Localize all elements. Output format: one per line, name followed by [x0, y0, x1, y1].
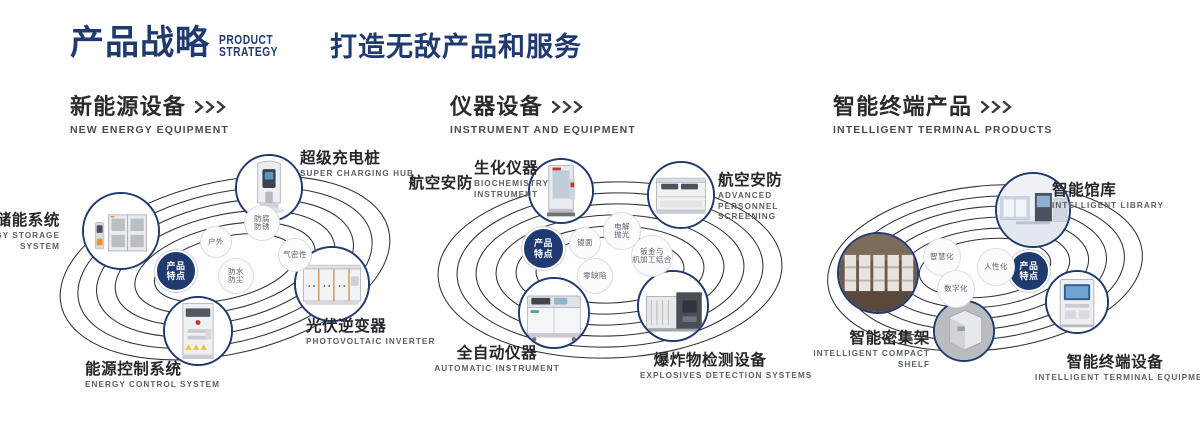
label-cn: 航空安防: [718, 172, 808, 189]
feature-bubble-label: 气密性: [283, 251, 307, 259]
feature-bubble-waterproof[interactable]: 防水 防尘: [218, 258, 254, 294]
label-cn: 光伏逆变器: [306, 318, 435, 335]
label-intelligent-compact-shelf: 智能密集架 INTELLIGENT COMPACT SHELF: [790, 330, 930, 370]
section-title-en: INSTRUMENT AND EQUIPMENT: [450, 125, 636, 136]
label-en: PHOTOVOLTAIC INVERTER: [306, 337, 435, 347]
feature-bubble-mirror-finish[interactable]: 镜面: [569, 227, 601, 259]
feature-bubble-label: 零缺陷: [583, 272, 607, 280]
node-intelligent-terminal-equipment[interactable]: [1045, 270, 1109, 334]
label-en: AUTOMATIC INSTRUMENT: [432, 364, 562, 374]
feature-bubble-line2: 防锈: [254, 223, 270, 231]
label-super-charging-hub: 超级充电桩 SUPER CHARGING HUB: [300, 150, 414, 180]
feature-bubble-sheetmetal-machining[interactable]: 钣金与 机加工结合: [631, 235, 673, 277]
center-bubble-product-features[interactable]: 产品 特点: [522, 227, 565, 270]
label-en: ENERGY CONTROL SYSTEM: [85, 380, 220, 390]
feature-bubble-label: 智慧化: [930, 253, 954, 261]
feature-bubble-label: 数字化: [944, 285, 968, 293]
section-title-en: NEW ENERGY EQUIPMENT: [70, 125, 229, 136]
label-cn: 智能密集架: [790, 330, 930, 347]
node-explosives-detection-systems[interactable]: [637, 270, 709, 342]
label-cn: 智能馆库: [1052, 182, 1164, 199]
label-energy-control-system: 能源控制系统 ENERGY CONTROL SYSTEM: [85, 361, 220, 391]
node-energy-storage-system[interactable]: [82, 192, 160, 270]
label-cn: 储能系统: [0, 212, 60, 229]
feature-bubble-outdoor[interactable]: 户外: [200, 226, 232, 258]
node-energy-control-system[interactable]: [163, 296, 233, 366]
label-photovoltaic-inverter: 光伏逆变器 PHOTOVOLTAIC INVERTER: [306, 318, 435, 348]
label-en: SUPER CHARGING HUB: [300, 169, 414, 179]
feature-bubble-label: 镜面: [577, 239, 593, 247]
center-bubble-line1: 产品: [1019, 261, 1038, 271]
section-title-en: INTELLIGENT TERMINAL PRODUCTS: [833, 125, 1053, 136]
label-energy-storage-system: 储能系统 ENERGY STORAGE SYSTEM: [0, 212, 60, 252]
page-subtitle: 打造无敌产品和服务: [330, 34, 582, 61]
label-intelligent-terminal-equipment: 智能终端设备 INTELLIGENT TERMINAL EQUIPMENT: [1035, 354, 1195, 384]
page-title-en-line2: STRATEGY: [219, 47, 278, 59]
feature-bubble-digitalized[interactable]: 数字化: [937, 270, 975, 308]
feature-bubble-line2: 抛光: [614, 231, 630, 239]
feature-bubble-anticorrosion[interactable]: 防腐 防锈: [244, 205, 280, 241]
chevron-right-triple-icon: [552, 101, 586, 113]
page-title: 产品战略 PRODUCT STRATEGY: [70, 26, 291, 60]
node-automatic-instrument[interactable]: [518, 277, 590, 349]
feature-bubble-zero-defect[interactable]: 零缺陷: [577, 258, 613, 294]
center-bubble-line2: 特点: [534, 249, 553, 259]
label-biochemistry-instrument: 生化仪器 BIOCHEMISTRY INSTRUMENT: [474, 160, 546, 200]
label-cn: 全自动仪器: [432, 345, 562, 362]
chevron-right-triple-icon: [981, 101, 1015, 113]
label-explosives-detection-systems: 爆炸物检测设备 EXPLOSIVES DETECTION SYSTEMS: [640, 352, 780, 382]
feature-bubble-humanized[interactable]: 人性化: [977, 248, 1015, 286]
center-bubble-line2: 特点: [166, 271, 185, 281]
section-header-instrument: 仪器设备 INSTRUMENT AND EQUIPMENT: [450, 96, 636, 136]
page-title-cn: 产品战略: [70, 26, 210, 60]
feature-bubble-line2: 防尘: [228, 276, 244, 284]
section-header-new-energy: 新能源设备 NEW ENERGY EQUIPMENT: [70, 96, 229, 136]
center-bubble-line1: 产品: [166, 261, 185, 271]
center-bubble-line2: 特点: [1019, 271, 1038, 281]
label-automatic-instrument: 全自动仪器 AUTOMATIC INSTRUMENT: [432, 345, 562, 375]
feature-bubble-label: 户外: [208, 238, 224, 246]
label-en: INTELLIGENT LIBRARY: [1052, 201, 1164, 211]
label-en: INTELLIGENT COMPACT SHELF: [790, 349, 930, 370]
label-cn: 爆炸物检测设备: [640, 352, 780, 369]
node-storage-cabinet[interactable]: [933, 300, 995, 362]
section-title-cn: 仪器设备: [450, 96, 543, 118]
section-title-cn: 新能源设备: [70, 96, 186, 118]
label-cn: 航空安防: [398, 175, 473, 192]
label-en: ADVANCED PERSONNEL SCREENING: [718, 191, 808, 222]
label-advanced-personnel-screening: 航空安防 ADVANCED PERSONNEL SCREENING: [718, 172, 808, 222]
label-intelligent-library: 智能馆库 INTELLIGENT LIBRARY: [1052, 182, 1164, 212]
label-en: ENERGY STORAGE SYSTEM: [0, 231, 60, 252]
feature-bubble-line2: 机加工结合: [632, 256, 672, 264]
product-strategy-infographic: 产品战略 PRODUCT STRATEGY 打造无敌产品和服务 新能源设备 NE…: [0, 0, 1200, 422]
label-cn: 能源控制系统: [85, 361, 220, 378]
center-bubble-line1: 产品: [534, 238, 553, 248]
label-cn: 超级充电桩: [300, 150, 414, 167]
page-title-en: PRODUCT STRATEGY: [219, 35, 278, 58]
label-cn: 智能终端设备: [1035, 354, 1195, 371]
node-advanced-personnel-screening[interactable]: [647, 161, 715, 229]
label-aviation-security-left: 航空安防: [398, 175, 473, 192]
feature-bubble-label: 人性化: [984, 263, 1008, 271]
label-en: EXPLOSIVES DETECTION SYSTEMS: [640, 371, 780, 381]
label-en: BIOCHEMISTRY INSTRUMENT: [474, 179, 546, 200]
chevron-right-triple-icon: [195, 101, 229, 113]
center-bubble-product-features[interactable]: 产品 特点: [155, 250, 197, 292]
node-intelligent-compact-shelf[interactable]: [837, 232, 919, 314]
section-header-intelligent-terminal: 智能终端产品 INTELLIGENT TERMINAL PRODUCTS: [833, 96, 1053, 136]
feature-bubble-airtightness[interactable]: 气密性: [278, 238, 312, 272]
label-cn: 生化仪器: [474, 160, 546, 177]
section-title-cn: 智能终端产品: [833, 96, 972, 118]
label-en: INTELLIGENT TERMINAL EQUIPMENT: [1035, 373, 1195, 383]
